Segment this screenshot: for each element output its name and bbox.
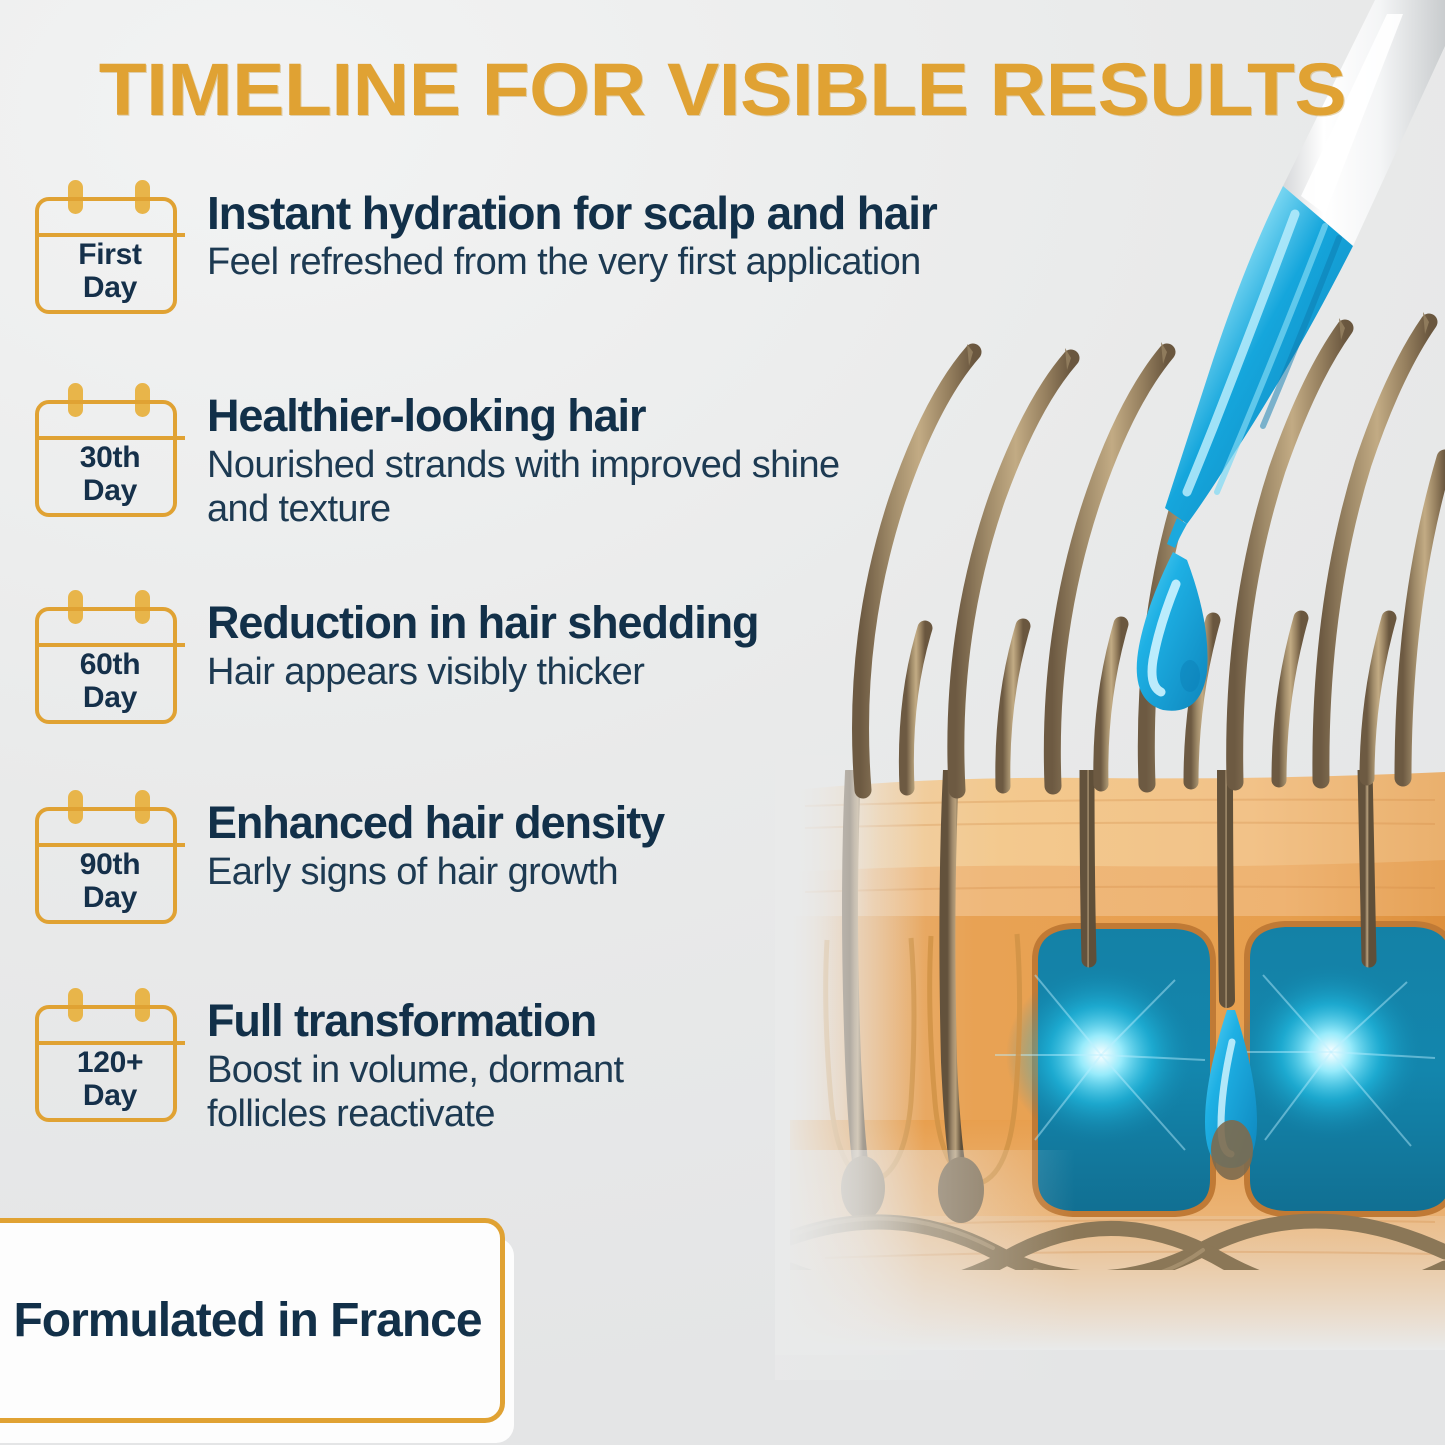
timeline-item-subtext: Early signs of hair growth [207,850,664,894]
calendar-label-line1: 90th [35,848,185,881]
calendar-label-line1: 30th [35,441,185,474]
calendar-label-line1: 120+ [35,1046,185,1079]
calendar-label-line2: Day [35,271,185,304]
infographic-canvas: TIMELINE FOR VISIBLE RESULTS First Day I… [0,0,1445,1445]
timeline-item-subtext: Nourished strands with improved shine an… [207,443,840,531]
badge-label: Formulated in France [0,1293,482,1349]
calendar-divider [35,233,185,237]
calendar-icon: 60th Day [35,590,185,728]
timeline-item-subtext: Feel refreshed from the very first appli… [207,240,937,284]
calendar-icon: First Day [35,180,185,318]
calendar-divider [35,1041,185,1045]
calendar-divider [35,436,185,440]
calendar-label-line2: Day [35,474,185,507]
calendar-label-line1: 60th [35,648,185,681]
calendar-label: 90th Day [35,848,185,914]
calendar-label: 120+ Day [35,1046,185,1112]
calendar-divider [35,843,185,847]
hair-strands [861,322,1445,790]
timeline-item-30th-day: 30th Day Healthier-looking hair Nourishe… [35,383,840,531]
timeline-item-120-day: 120+ Day Full transformation Boost in vo… [35,988,737,1136]
calendar-label-line2: Day [35,681,185,714]
timeline-item-text: Reduction in hair shedding Hair appears … [207,590,758,694]
timeline-item-text: Full transformation Boost in volume, dor… [207,988,737,1136]
timeline-item-headline: Healthier-looking hair [207,391,840,441]
calendar-label-line2: Day [35,1079,185,1112]
calendar-icon: 30th Day [35,383,185,521]
hair-tips [967,312,1429,370]
calendar-icon: 90th Day [35,790,185,928]
timeline-item-headline: Enhanced hair density [207,798,664,848]
calendar-icon: 120+ Day [35,988,185,1126]
timeline-item-subtext: Boost in volume, dormant follicles react… [207,1048,737,1136]
calendar-divider [35,643,185,647]
timeline-item-90th-day: 90th Day Enhanced hair density Early sig… [35,790,664,928]
calendar-label-line1: First [35,238,185,271]
timeline-item-text: Instant hydration for scalp and hair Fee… [207,180,937,284]
timeline-item-60th-day: 60th Day Reduction in hair shedding Hair… [35,590,758,728]
page-title: TIMELINE FOR VISIBLE RESULTS [0,47,1445,132]
timeline-item-headline: Reduction in hair shedding [207,598,758,648]
timeline-item-text: Enhanced hair density Early signs of hai… [207,790,664,894]
badge-card: Formulated in France [0,1218,505,1423]
timeline-item-headline: Full transformation [207,996,737,1046]
water-droplet-icon [1137,552,1208,711]
calendar-label-line2: Day [35,881,185,914]
calendar-label: 60th Day [35,648,185,714]
timeline-item-headline: Instant hydration for scalp and hair [207,188,937,238]
timeline-item-first-day: First Day Instant hydration for scalp an… [35,180,937,318]
calendar-label: First Day [35,238,185,304]
timeline-item-text: Healthier-looking hair Nourished strands… [207,383,840,531]
timeline-item-subtext: Hair appears visibly thicker [207,650,758,694]
page-title-text: TIMELINE FOR VISIBLE RESULTS [99,47,1347,132]
calendar-label: 30th Day [35,441,185,507]
